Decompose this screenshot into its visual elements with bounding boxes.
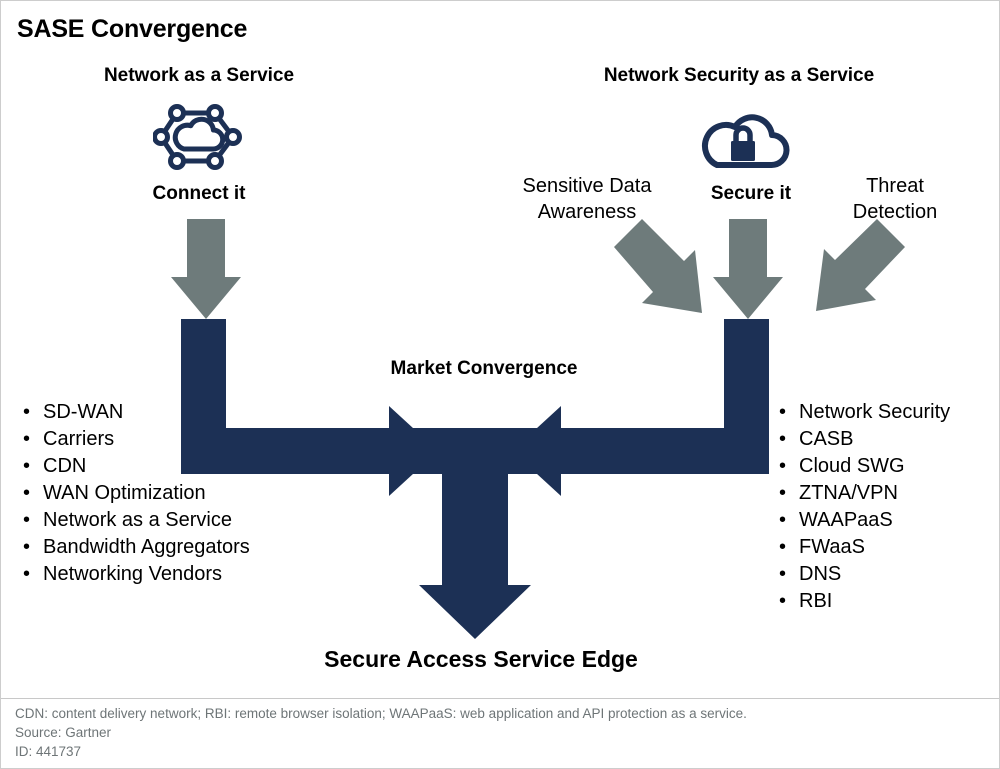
list-item: FWaaS (777, 534, 950, 561)
list-item: CASB (777, 426, 950, 453)
footer-divider (1, 698, 1000, 699)
list-item: Network as a Service (21, 507, 250, 534)
center-hub (433, 428, 517, 474)
list-item: ZTNA/VPN (777, 480, 950, 507)
footer-id: ID: 441737 (15, 742, 975, 761)
list-item: DNS (777, 561, 950, 588)
output-arrow (419, 474, 531, 639)
list-item: Network Security (777, 399, 950, 426)
label-market-convergence: Market Convergence (344, 358, 624, 380)
list-item: WAAPaaS (777, 507, 950, 534)
list-item: CDN (21, 453, 250, 480)
sase-convergence-diagram: SASE Convergence Network as a Service Ne… (0, 0, 1000, 769)
left-arrowhead (389, 406, 438, 496)
right-arrowhead (512, 406, 561, 496)
list-item: WAN Optimization (21, 480, 250, 507)
list-item: SD-WAN (21, 399, 250, 426)
list-item: Bandwidth Aggregators (21, 534, 250, 561)
list-item: Carriers (21, 426, 250, 453)
footer: CDN: content delivery network; RBI: remo… (15, 704, 975, 761)
right-capability-list: Network Security CASB Cloud SWG ZTNA/VPN… (777, 399, 950, 615)
left-capability-list: SD-WAN Carriers CDN WAN Optimization Net… (21, 399, 250, 588)
footer-abbreviations: CDN: content delivery network; RBI: remo… (15, 704, 975, 723)
list-item: RBI (777, 588, 950, 615)
footer-source: Source: Gartner (15, 723, 975, 742)
list-item: Cloud SWG (777, 453, 950, 480)
label-secure-access-service-edge: Secure Access Service Edge (216, 646, 746, 673)
list-item: Networking Vendors (21, 561, 250, 588)
